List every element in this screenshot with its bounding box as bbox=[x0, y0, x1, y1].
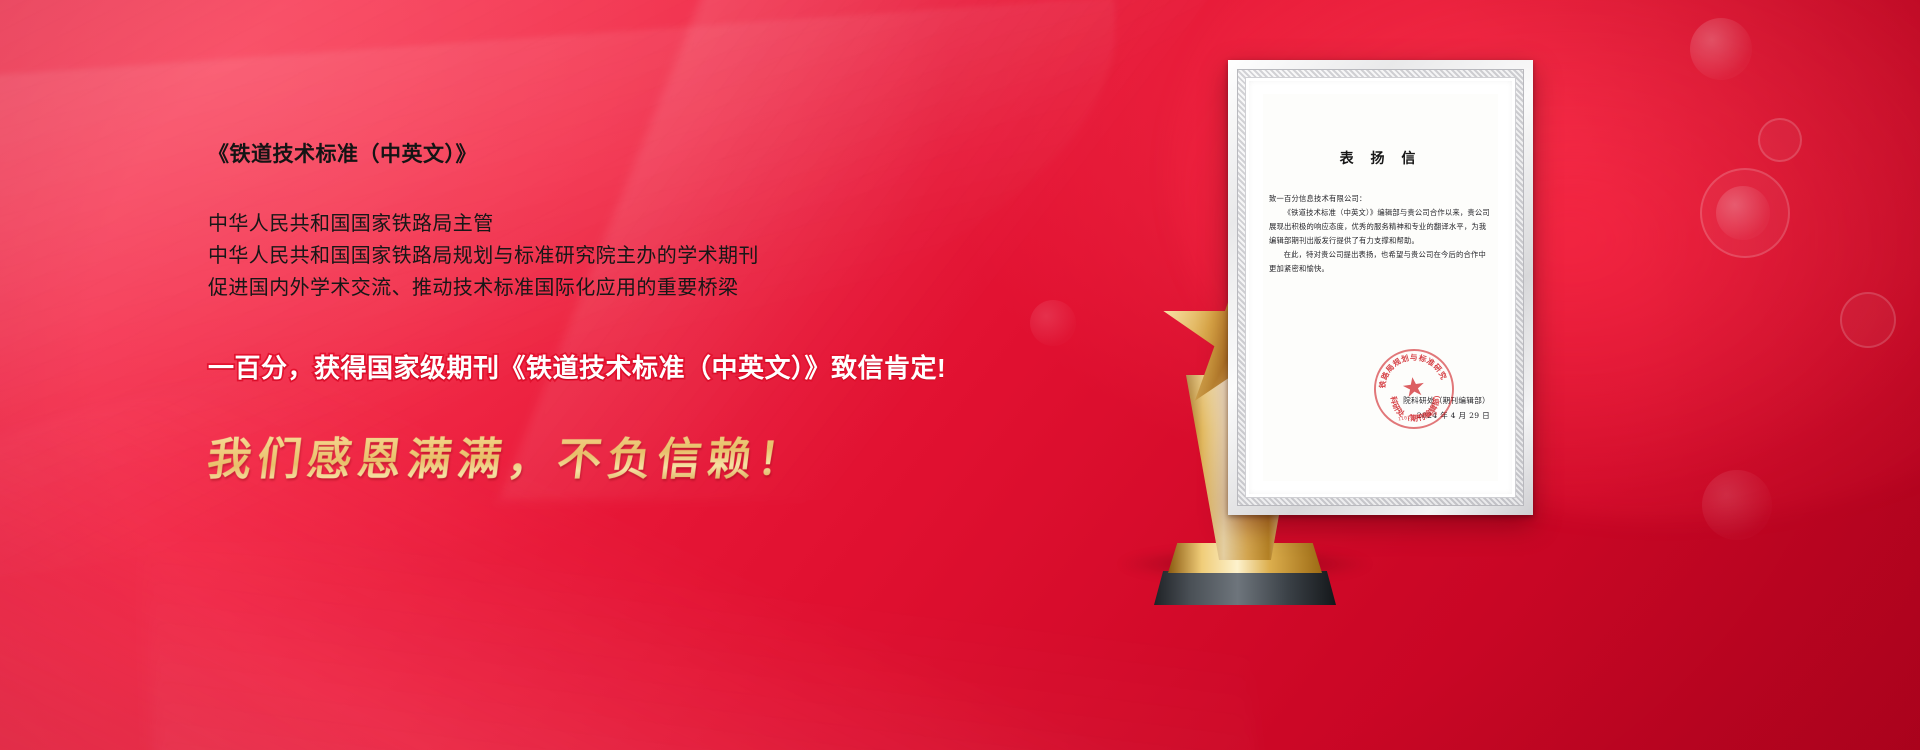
journal-title: 《铁道技术标准（中英文）》 bbox=[208, 138, 1008, 168]
bokeh-circle bbox=[1030, 300, 1076, 346]
bokeh-circle bbox=[1758, 118, 1802, 162]
description-line: 中华人民共和国国家铁路局规划与标准研究院主办的学术期刊 bbox=[208, 240, 1008, 272]
bokeh-circle bbox=[1702, 470, 1772, 540]
description-line: 中华人民共和国国家铁路局主管 bbox=[208, 208, 1008, 240]
bokeh-circle bbox=[1840, 292, 1896, 348]
calligraphy-slogan: 我们感恩满满，不负信赖！ bbox=[204, 423, 1012, 487]
certificate-body: 致一百分信息技术有限公司： 《铁道技术标准（中英文）》编辑部与贵公司合作以来，贵… bbox=[1263, 192, 1498, 276]
official-stamp-icon: 铁路局规划与标准研究 科研处（期刊编辑部） 1101021011180 bbox=[1369, 344, 1459, 434]
copy-block: 《铁道技术标准（中英文）》 中华人民共和国国家铁路局主管 中华人民共和国国家铁路… bbox=[208, 138, 1008, 487]
promo-banner: 《铁道技术标准（中英文）》 中华人民共和国国家铁路局主管 中华人民共和国国家铁路… bbox=[0, 0, 1920, 750]
journal-description: 中华人民共和国国家铁路局主管 中华人民共和国国家铁路局规划与标准研究院主办的学术… bbox=[208, 208, 1008, 304]
bokeh-circle bbox=[1716, 186, 1770, 240]
light-ribbon-5 bbox=[142, 491, 1257, 750]
description-line: 促进国内外学术交流、推动技术标准国际化应用的重要桥梁 bbox=[208, 272, 1008, 304]
commendation-letter: 表 扬 信 致一百分信息技术有限公司： 《铁道技术标准（中英文）》编辑部与贵公司… bbox=[1263, 94, 1498, 481]
certificate-title: 表 扬 信 bbox=[1263, 148, 1498, 168]
certificate-frame: 表 扬 信 致一百分信息技术有限公司： 《铁道技术标准（中英文）》编辑部与贵公司… bbox=[1228, 60, 1533, 515]
trophy-base-dark bbox=[1154, 571, 1336, 605]
certificate-paragraph: 在此，特对贵公司提出表扬，也希望与贵公司在今后的合作中更加紧密和愉快。 bbox=[1269, 248, 1492, 276]
frame-bevel: 表 扬 信 致一百分信息技术有限公司： 《铁道技术标准（中英文）》编辑部与贵公司… bbox=[1245, 77, 1516, 498]
headline: 一百分，获得国家级期刊《铁道技术标准（中英文）》致信肯定! bbox=[208, 348, 1008, 385]
frame-inner-band: 表 扬 信 致一百分信息技术有限公司： 《铁道技术标准（中英文）》编辑部与贵公司… bbox=[1237, 69, 1524, 506]
bokeh-circle bbox=[1690, 18, 1752, 80]
bokeh-circle bbox=[1700, 168, 1790, 258]
certificate-paragraph: 致一百分信息技术有限公司： bbox=[1269, 192, 1492, 206]
certificate-paragraph: 《铁道技术标准（中英文）》编辑部与贵公司合作以来，贵公司展现出积极的响应态度，优… bbox=[1269, 206, 1492, 248]
